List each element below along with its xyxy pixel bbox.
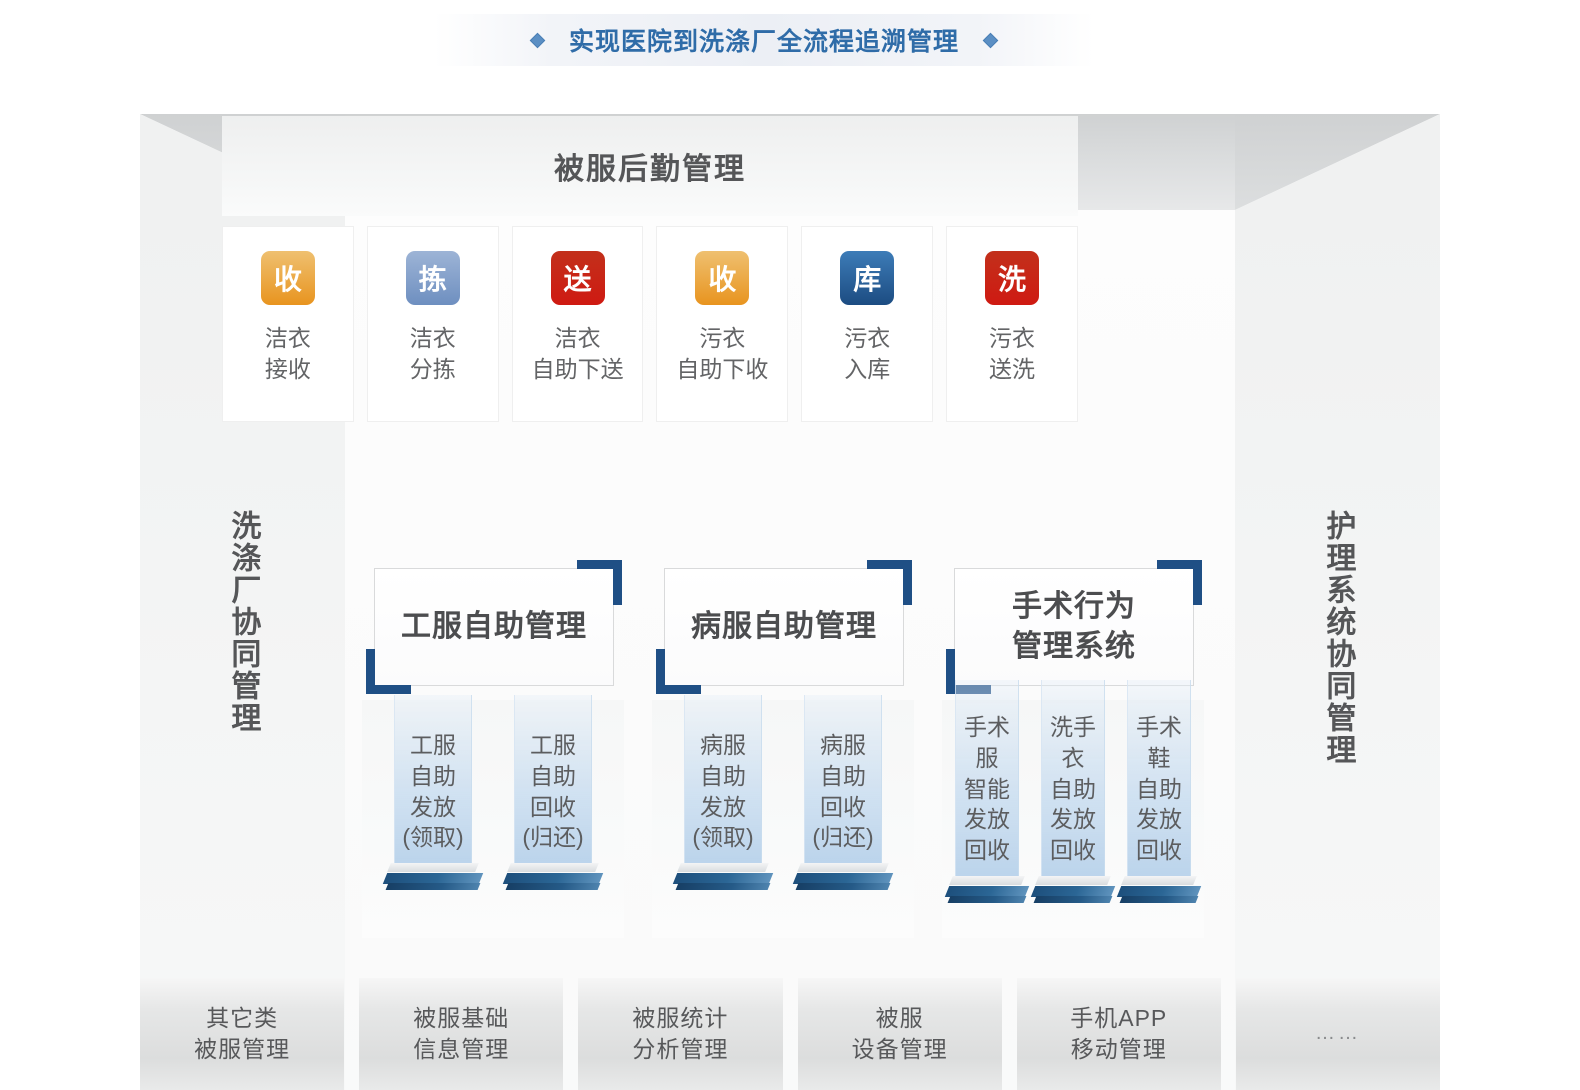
badge-icon: 洗 <box>985 251 1039 305</box>
footer-card-label: 被服基础 信息管理 <box>413 1003 509 1066</box>
badge-icon: 收 <box>695 251 749 305</box>
base-slab <box>507 863 599 872</box>
process-card[interactable]: 拣 洁衣 分拣 <box>367 226 499 422</box>
left-side-label-wrap: 洗涤厂协同管理 <box>140 510 345 747</box>
pedestal-row-patient: 病服 自助 发放 (领取) 病服 自助 回收 (归还) <box>652 730 914 893</box>
badge-icon: 收 <box>261 251 315 305</box>
base-slab <box>949 876 1025 885</box>
pedestal-base <box>947 876 1027 906</box>
tagline-banner: 实现医院到洗涤厂全流程追溯管理 <box>434 14 1094 66</box>
process-card[interactable]: 收 洁衣 接收 <box>222 226 354 422</box>
tagline-text: 实现医院到洗涤厂全流程追溯管理 <box>569 22 959 58</box>
footer-card-row: 其它类 被服管理 被服基础 信息管理 被服统计 分析管理 被服 设备管理 手机A… <box>140 978 1440 1090</box>
pedestal-base <box>505 863 601 893</box>
process-card-label: 洁衣 分拣 <box>410 323 456 384</box>
base-slab <box>1035 876 1111 885</box>
base-platform-side <box>1034 896 1113 903</box>
pedestal-label: 手术 鞋 自助 发放 回收 <box>1136 712 1182 876</box>
footer-card-label: 手机APP 移动管理 <box>1070 1003 1167 1066</box>
footer-card-label: …… <box>1315 1020 1361 1047</box>
footer-card[interactable]: …… <box>1236 978 1440 1090</box>
corner-bracket-icon <box>656 649 701 694</box>
pedestal-base <box>385 863 481 893</box>
pedestal-item[interactable]: 手术 鞋 自助 发放 回收 <box>1119 712 1199 906</box>
pedestal-label: 病服 自助 回收 (归还) <box>812 730 873 863</box>
process-card-row: 收 洁衣 接收 拣 洁衣 分拣 送 洁衣 自助下送 收 污衣 自助下收 库 污衣… <box>222 226 1078 422</box>
module-box-uniform[interactable]: 工服自助管理 <box>374 568 614 686</box>
corner-bracket-icon <box>1157 560 1202 605</box>
right-side-panel: 护理系统协同管理 <box>1235 210 1440 1090</box>
footer-card[interactable]: 被服 设备管理 <box>798 978 1002 1090</box>
footer-card[interactable]: 其它类 被服管理 <box>140 978 344 1090</box>
process-card[interactable]: 洗 污衣 送洗 <box>946 226 1078 422</box>
base-platform-side <box>676 883 771 890</box>
pedestal-label: 病服 自助 发放 (领取) <box>692 730 753 863</box>
pedestal-item[interactable]: 工服 自助 发放 (领取) <box>385 730 481 893</box>
pedestal-label: 手术 服 智能 发放 回收 <box>964 712 1010 876</box>
pedestal-row-uniform: 工服 自助 发放 (领取) 工服 自助 回收 (归还) <box>362 730 624 893</box>
corner-bracket-icon <box>577 560 622 605</box>
process-card-label: 污衣 自助下收 <box>676 323 768 384</box>
pedestal-item[interactable]: 手术 服 智能 发放 回收 <box>947 712 1027 906</box>
pedestal-item[interactable]: 病服 自助 回收 (归还) <box>795 730 891 893</box>
corner-bracket-icon <box>366 649 411 694</box>
right-side-label: 护理系统协同管理 <box>1316 510 1360 766</box>
pedestal-label: 工服 自助 回收 (归还) <box>522 730 583 863</box>
footer-card-label: 其它类 被服管理 <box>194 1003 290 1066</box>
pedestal-item[interactable]: 病服 自助 发放 (领取) <box>675 730 771 893</box>
pedestal-base <box>795 863 891 893</box>
footer-card[interactable]: 手机APP 移动管理 <box>1017 978 1221 1090</box>
base-slab <box>1121 876 1197 885</box>
right-side-label-wrap: 护理系统协同管理 <box>1235 510 1440 779</box>
badge-icon: 库 <box>840 251 894 305</box>
pedestal-base <box>1033 876 1113 906</box>
base-platform-side <box>796 883 891 890</box>
base-slab <box>797 863 889 872</box>
logistics-header: 被服后勤管理 <box>222 116 1078 216</box>
base-slab <box>387 863 479 872</box>
left-side-label: 洗涤厂协同管理 <box>221 510 265 734</box>
pedestal-label: 洗手 衣 自助 发放 回收 <box>1050 712 1096 876</box>
base-platform-side <box>948 896 1027 903</box>
badge-icon: 拣 <box>406 251 460 305</box>
base-platform-side <box>506 883 601 890</box>
logistics-header-label: 被服后勤管理 <box>554 144 746 188</box>
process-card[interactable]: 库 污衣 入库 <box>801 226 933 422</box>
module-box-surgery[interactable]: 手术行为 管理系统 <box>954 568 1194 686</box>
base-platform-side <box>1120 896 1199 903</box>
footer-card-label: 被服 设备管理 <box>852 1003 948 1066</box>
pedestal-item[interactable]: 洗手 衣 自助 发放 回收 <box>1033 712 1113 906</box>
module-box-patient[interactable]: 病服自助管理 <box>664 568 904 686</box>
process-card[interactable]: 送 洁衣 自助下送 <box>512 226 644 422</box>
process-card[interactable]: 收 污衣 自助下收 <box>656 226 788 422</box>
footer-card[interactable]: 被服基础 信息管理 <box>359 978 563 1090</box>
base-slab <box>677 863 769 872</box>
pedestal-label: 工服 自助 发放 (领取) <box>402 730 463 863</box>
pedestal-item[interactable]: 工服 自助 回收 (归还) <box>505 730 601 893</box>
diamond-icon <box>983 32 999 48</box>
corner-bracket-icon <box>867 560 912 605</box>
footer-card[interactable]: 被服统计 分析管理 <box>578 978 782 1090</box>
badge-icon: 送 <box>551 251 605 305</box>
footer-card-label: 被服统计 分析管理 <box>632 1003 728 1066</box>
process-card-label: 洁衣 接收 <box>265 323 311 384</box>
pedestal-base <box>675 863 771 893</box>
module-title: 工服自助管理 <box>401 607 587 647</box>
base-platform-side <box>386 883 481 890</box>
module-title: 病服自助管理 <box>691 607 877 647</box>
process-card-label: 洁衣 自助下送 <box>532 323 624 384</box>
diamond-icon <box>530 32 546 48</box>
pedestal-row-surgery: 手术 服 智能 发放 回收 洗手 衣 自助 发放 回收 手术 鞋 自助 发放 回… <box>942 712 1204 906</box>
process-card-label: 污衣 送洗 <box>989 323 1035 384</box>
module-title: 手术行为 管理系统 <box>1012 587 1136 667</box>
process-card-label: 污衣 入库 <box>844 323 890 384</box>
pedestal-base <box>1119 876 1199 906</box>
